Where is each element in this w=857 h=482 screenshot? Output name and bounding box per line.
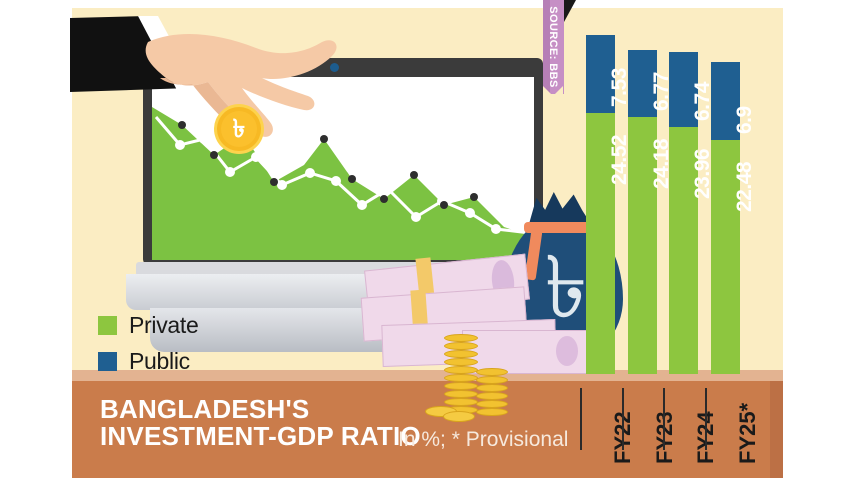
category-divider <box>663 388 665 450</box>
category-divider <box>622 388 624 450</box>
bar-category-label: FY23 <box>652 411 678 464</box>
bar-category-label: FY25* <box>735 403 761 464</box>
infographic-canvas: ৳ ৳ SOURCE: BBS Private <box>0 0 857 482</box>
category-divider <box>580 388 582 450</box>
category-divider <box>705 388 707 450</box>
bar-value-private: 22.48 <box>733 162 757 212</box>
bar-value-public: 6.9 <box>733 106 757 134</box>
bar-chart: 7.5324.52FY226.7724.18FY236.7423.96FY246… <box>0 0 857 482</box>
